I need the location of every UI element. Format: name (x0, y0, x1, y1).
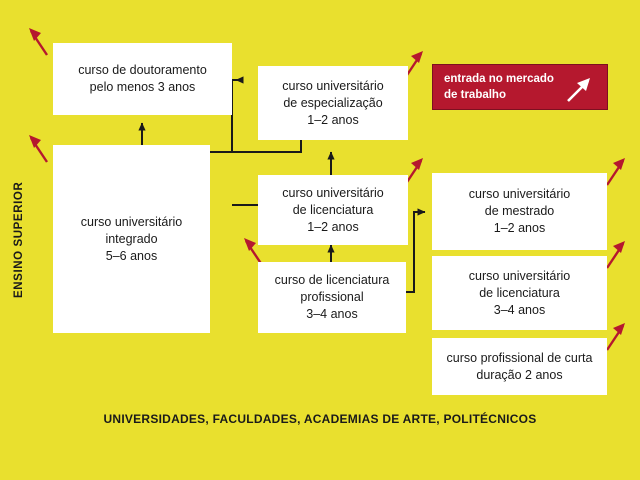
box-integrado-line2: integrado (105, 231, 157, 248)
legend-line1: entrada no mercado (444, 71, 554, 87)
box-licenciatura-3-4[interactable]: curso universitário de licenciatura 3–4 … (432, 256, 607, 330)
box-especializacao-line2: de especialização (283, 95, 382, 112)
box-mestrado-line2: de mestrado (485, 203, 554, 220)
box-especializacao[interactable]: curso universitário de especialização 1–… (258, 66, 408, 140)
box-licenciatura-3-4-line2: de licenciatura (479, 285, 560, 302)
box-licenciatura-profissional[interactable]: curso de licenciatura profissional 3–4 a… (258, 262, 406, 333)
box-doutoramento-line2: pelo menos 3 anos (90, 79, 196, 96)
exit-arrow-licenciatura34 (607, 241, 625, 268)
diagram-canvas: curso de doutoramento pelo menos 3 anos … (0, 0, 640, 480)
box-licenciatura-profissional-line1: curso de licenciatura (275, 272, 390, 289)
box-especializacao-line1: curso universitário (282, 78, 383, 95)
exit-arrow-doutoramento (29, 28, 47, 55)
box-profissional-curta-line1: curso profissional de curta (447, 350, 593, 367)
box-licenciatura-1-2[interactable]: curso universitário de licenciatura 1–2 … (258, 175, 408, 245)
box-mestrado[interactable]: curso universitário de mestrado 1–2 anos (432, 173, 607, 250)
box-mestrado-line3: 1–2 anos (494, 220, 545, 237)
exit-arrow-profissional-curta (607, 323, 625, 350)
box-licenciatura-profissional-line3: 3–4 anos (306, 306, 357, 323)
box-doutoramento-line1: curso de doutoramento (78, 62, 207, 79)
caption-institutions: UNIVERSIDADES, FACULDADES, ACADEMIAS DE … (0, 412, 640, 426)
box-integrado-line3: 5–6 anos (106, 248, 157, 265)
box-especializacao-line3: 1–2 anos (307, 112, 358, 129)
arrow-up-right-icon (559, 71, 599, 107)
arrow-licprofissional-to-mestrado (406, 212, 425, 292)
side-label-ensino-superior: ENSINO SUPERIOR (4, 150, 34, 330)
box-licenciatura-1-2-line1: curso universitário (282, 185, 383, 202)
box-licenciatura-1-2-line2: de licenciatura (293, 202, 374, 219)
legend-line2: de trabalho (444, 87, 554, 103)
box-mestrado-line1: curso universitário (469, 186, 570, 203)
box-licenciatura-1-2-line3: 1–2 anos (307, 219, 358, 236)
box-licenciatura-profissional-line2: profissional (300, 289, 363, 306)
box-integrado-line1: curso universitário (81, 214, 182, 231)
exit-arrow-mestrado (607, 158, 625, 185)
box-profissional-curta-line2: duração 2 anos (476, 367, 562, 384)
legend-entrada-mercado-trabalho[interactable]: entrada no mercado de trabalho (432, 64, 608, 110)
legend-label: entrada no mercado de trabalho (444, 71, 554, 103)
box-licenciatura-3-4-line1: curso universitário (469, 268, 570, 285)
box-profissional-curta[interactable]: curso profissional de curta duração 2 an… (432, 338, 607, 395)
box-licenciatura-3-4-line3: 3–4 anos (494, 302, 545, 319)
box-doutoramento[interactable]: curso de doutoramento pelo menos 3 anos (53, 43, 232, 115)
box-integrado[interactable]: curso universitário integrado 5–6 anos (53, 145, 210, 333)
